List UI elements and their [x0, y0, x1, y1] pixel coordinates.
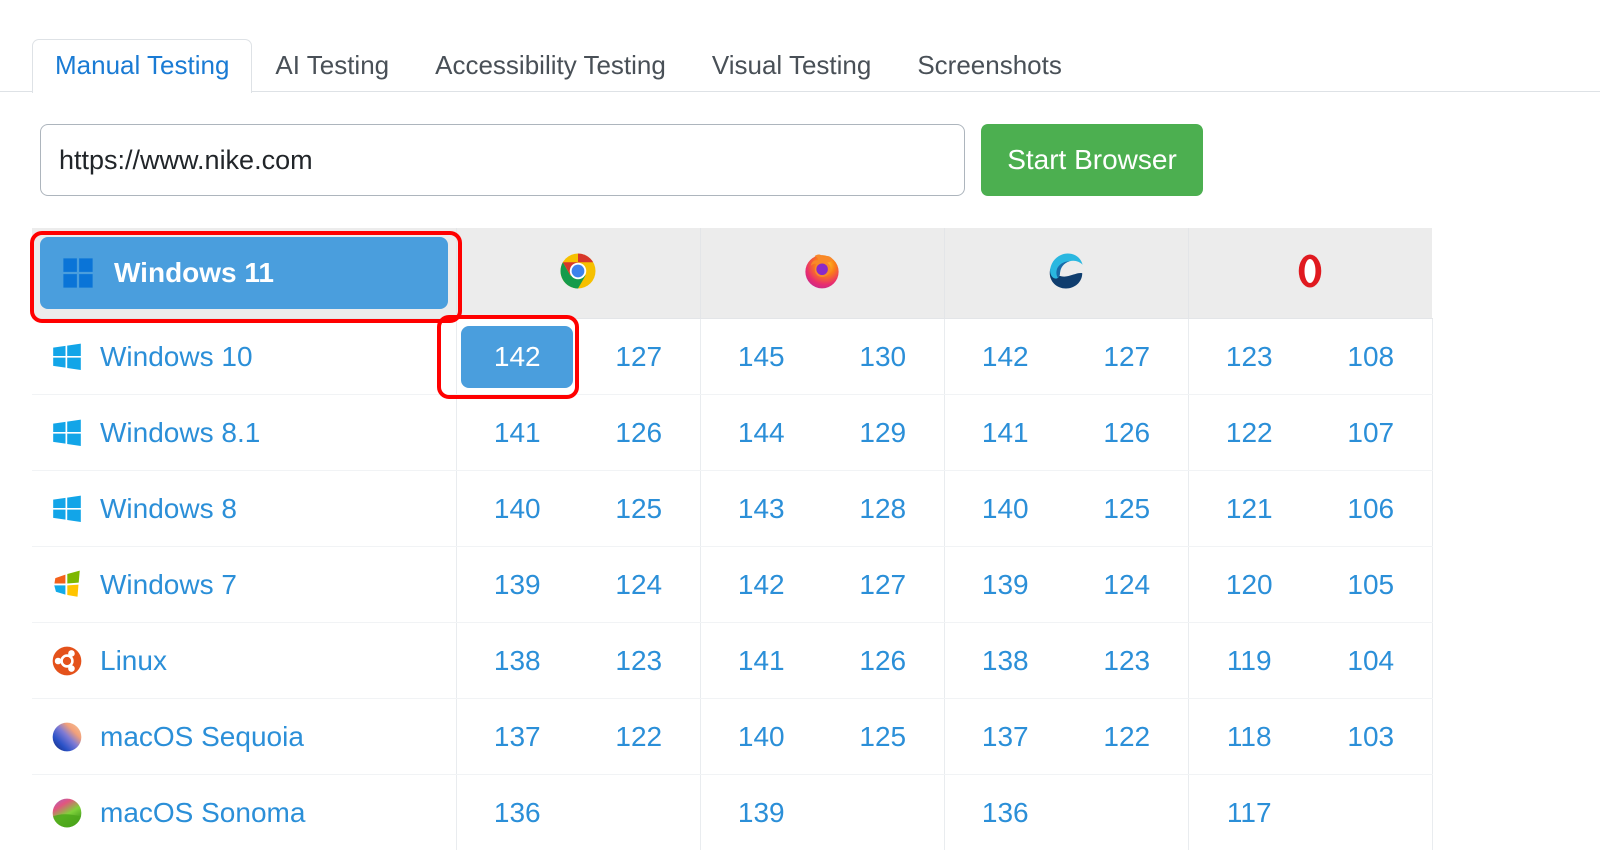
version-cell[interactable]: 140 [456, 471, 578, 547]
selected-os-label: Windows 11 [114, 257, 274, 289]
url-row: Start Browser [40, 124, 1203, 196]
version-cell[interactable]: 125 [1066, 471, 1188, 547]
os-label: macOS Sequoia [100, 721, 304, 753]
version-cell[interactable]: 127 [578, 319, 700, 395]
tab-ai-testing[interactable]: AI Testing [252, 39, 412, 92]
os-cell-content: Windows 8 [50, 492, 456, 526]
version-cell[interactable] [822, 775, 944, 850]
table-row[interactable]: macOS Sequoia137122140125137122118103 [32, 699, 1432, 775]
version-cell[interactable]: 142 [456, 319, 578, 395]
version-cell[interactable]: 108 [1310, 319, 1432, 395]
version-cell[interactable]: 139 [944, 547, 1066, 623]
version-cell[interactable]: 122 [1066, 699, 1188, 775]
table-row[interactable]: Windows 7139124142127139124120105 [32, 547, 1432, 623]
version-cell[interactable]: 121 [1188, 471, 1310, 547]
windows-10-icon [50, 340, 84, 374]
version-cell[interactable]: 137 [944, 699, 1066, 775]
header-os-selected-windows-11[interactable]: Windows 11 [32, 228, 456, 319]
version-cell[interactable]: 117 [1188, 775, 1310, 850]
browser-column-opera[interactable] [1188, 228, 1432, 319]
version-cell[interactable]: 145 [700, 319, 822, 395]
os-label: Windows 10 [100, 341, 253, 373]
url-input[interactable] [40, 124, 965, 196]
firefox-icon [802, 251, 842, 291]
os-cell-content: macOS Sonoma [50, 796, 456, 830]
version-cell[interactable]: 119 [1188, 623, 1310, 699]
version-cell[interactable]: 120 [1188, 547, 1310, 623]
edge-icon [1046, 251, 1086, 291]
version-cell[interactable]: 127 [1066, 319, 1188, 395]
os-cell-content: Windows 8.1 [50, 416, 456, 450]
version-cell[interactable]: 104 [1310, 623, 1432, 699]
version-cell[interactable]: 139 [700, 775, 822, 850]
tab-list: Manual TestingAI TestingAccessibility Te… [32, 30, 1085, 92]
version-cell[interactable]: 118 [1188, 699, 1310, 775]
os-cell-windows-10[interactable]: Windows 10 [32, 319, 456, 395]
os-cell-macos-sequoia[interactable]: macOS Sequoia [32, 699, 456, 775]
opera-icon [1290, 251, 1330, 291]
version-cell[interactable]: 140 [944, 471, 1066, 547]
version-cell[interactable]: 142 [700, 547, 822, 623]
os-cell-windows-8[interactable]: Windows 8 [32, 471, 456, 547]
os-cell-content: Linux [50, 644, 456, 678]
os-cell-content: macOS Sequoia [50, 720, 456, 754]
version-cell[interactable]: 123 [1066, 623, 1188, 699]
version-cell[interactable]: 103 [1310, 699, 1432, 775]
version-cell[interactable]: 106 [1310, 471, 1432, 547]
version-cell[interactable]: 122 [578, 699, 700, 775]
version-cell[interactable]: 127 [822, 547, 944, 623]
table-row[interactable]: Windows 8.1141126144129141126122107 [32, 395, 1432, 471]
version-cell[interactable]: 137 [456, 699, 578, 775]
selected-version-cell[interactable]: 142 [461, 326, 573, 388]
version-cell[interactable] [1066, 775, 1188, 850]
version-cell[interactable]: 139 [456, 547, 578, 623]
os-cell-linux[interactable]: Linux [32, 623, 456, 699]
os-label: Windows 7 [100, 569, 237, 601]
os-label: Windows 8 [100, 493, 237, 525]
version-cell[interactable]: 138 [944, 623, 1066, 699]
version-cell[interactable]: 141 [944, 395, 1066, 471]
version-cell[interactable]: 126 [1066, 395, 1188, 471]
table-row[interactable]: Windows 10142127145130142127123108 [32, 319, 1432, 395]
version-cell[interactable]: 141 [700, 623, 822, 699]
browser-column-edge[interactable] [944, 228, 1188, 319]
version-cell[interactable]: 128 [822, 471, 944, 547]
table-header-row: Windows 11 [32, 228, 1432, 319]
version-cell[interactable]: 124 [578, 547, 700, 623]
windows-7-icon [50, 568, 84, 602]
os-cell-macos-sonoma[interactable]: macOS Sonoma [32, 775, 456, 850]
table-row[interactable]: Windows 8140125143128140125121106 [32, 471, 1432, 547]
tab-manual-testing[interactable]: Manual Testing [32, 39, 252, 93]
version-cell[interactable]: 140 [700, 699, 822, 775]
os-cell-windows-8-1[interactable]: Windows 8.1 [32, 395, 456, 471]
windows-10-icon [50, 416, 84, 450]
version-cell[interactable]: 143 [700, 471, 822, 547]
os-label: Linux [100, 645, 167, 677]
version-cell[interactable]: 126 [578, 395, 700, 471]
os-label: macOS Sonoma [100, 797, 305, 829]
version-cell[interactable]: 141 [456, 395, 578, 471]
os-cell-windows-7[interactable]: Windows 7 [32, 547, 456, 623]
selected-os-pill[interactable]: Windows 11 [40, 237, 448, 309]
windows-10-icon [50, 492, 84, 526]
version-cell[interactable]: 129 [822, 395, 944, 471]
browser-column-firefox[interactable] [700, 228, 944, 319]
tab-accessibility-testing[interactable]: Accessibility Testing [412, 39, 689, 92]
version-cell[interactable]: 122 [1188, 395, 1310, 471]
tab-visual-testing[interactable]: Visual Testing [689, 39, 894, 92]
version-cell[interactable]: 136 [456, 775, 578, 850]
os-cell-content: Windows 7 [50, 568, 456, 602]
version-cell[interactable]: 123 [1188, 319, 1310, 395]
version-cell[interactable]: 125 [578, 471, 700, 547]
os-cell-content: Windows 10 [50, 340, 456, 374]
version-cell[interactable]: 144 [700, 395, 822, 471]
version-cell[interactable]: 130 [822, 319, 944, 395]
version-cell[interactable]: 136 [944, 775, 1066, 850]
version-cell[interactable]: 125 [822, 699, 944, 775]
macos-sonoma-icon [50, 796, 84, 830]
page-root: Manual TestingAI TestingAccessibility Te… [0, 0, 1600, 850]
windows-11-icon [60, 255, 96, 291]
version-cell[interactable]: 142 [944, 319, 1066, 395]
start-browser-button[interactable]: Start Browser [981, 124, 1203, 196]
os-browser-matrix: Windows 11 Windows 101421271451301421271… [32, 228, 1432, 850]
os-label: Windows 8.1 [100, 417, 260, 449]
version-cell[interactable]: 123 [578, 623, 700, 699]
version-cell[interactable]: 107 [1310, 395, 1432, 471]
version-cell[interactable]: 138 [456, 623, 578, 699]
version-cell[interactable]: 126 [822, 623, 944, 699]
table-row[interactable]: Linux138123141126138123119104 [32, 623, 1432, 699]
version-cell[interactable]: 105 [1310, 547, 1432, 623]
macos-sequoia-icon [50, 720, 84, 754]
browser-column-chrome[interactable] [456, 228, 700, 319]
tab-screenshots[interactable]: Screenshots [894, 39, 1085, 92]
ubuntu-icon [50, 644, 84, 678]
version-cell[interactable] [578, 775, 700, 850]
tab-bar: Manual TestingAI TestingAccessibility Te… [0, 30, 1600, 92]
version-cell[interactable] [1310, 775, 1432, 850]
chrome-icon [558, 251, 598, 291]
table-row[interactable]: macOS Sonoma136139136117 [32, 775, 1432, 850]
version-cell[interactable]: 124 [1066, 547, 1188, 623]
